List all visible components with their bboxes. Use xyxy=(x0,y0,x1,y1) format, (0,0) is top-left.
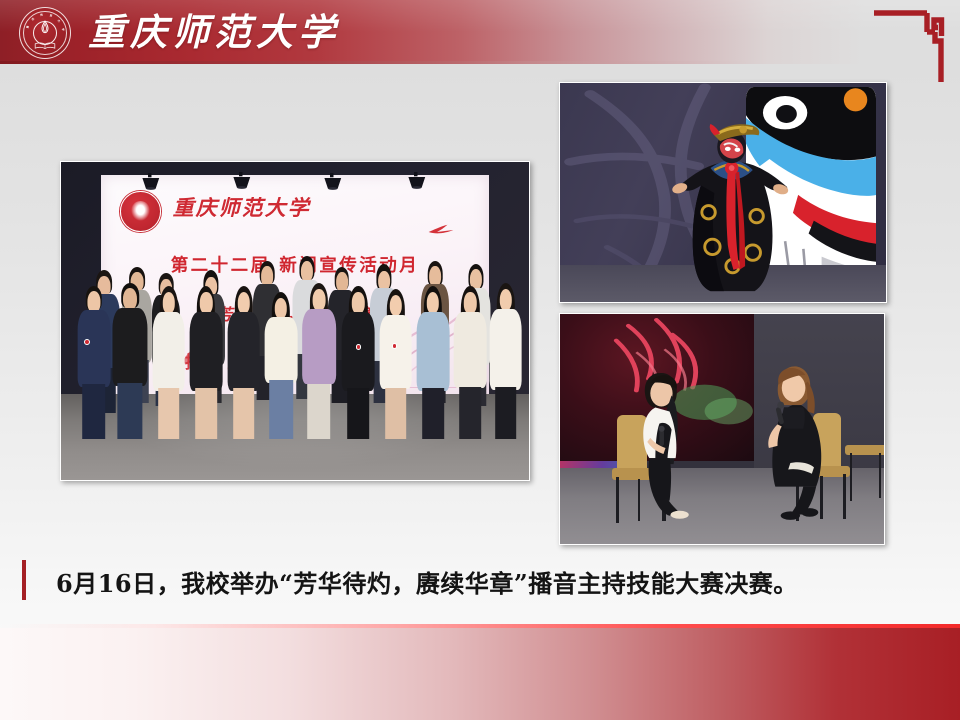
stage-spotlight-icon xyxy=(232,172,253,189)
group-photo-contestants-on-stage: 重庆师范大学 第二十二届 新闻宣传活动月 “芳华待灼，赓续华章” 播音主持技能大… xyxy=(60,161,530,481)
stage-spotlight-icon xyxy=(141,173,162,190)
person-figure xyxy=(227,286,260,439)
caption-text: 6月16日，我校举办“芳华待灼，赓续华章”播音主持技能大赛决赛。 xyxy=(56,560,936,602)
stage-spotlight-icon xyxy=(407,172,428,189)
person-figure xyxy=(265,292,298,438)
person-figure xyxy=(379,289,412,438)
person-figure xyxy=(417,286,450,439)
header-banner: 重庆师范大学 重庆师范大学 xyxy=(0,0,960,64)
interview-segment-photo xyxy=(559,313,885,545)
person-figure xyxy=(302,283,336,439)
person-figure xyxy=(342,286,375,439)
sichuan-opera-face-changing-performance-photo xyxy=(559,82,887,303)
person-figure xyxy=(454,286,487,439)
backdrop-university-name: 重庆师范大学 xyxy=(173,192,311,222)
university-emblem-icon: 重庆师范大学 xyxy=(19,7,71,59)
person-figure xyxy=(152,286,185,439)
meander-corner-top-right-icon xyxy=(872,6,948,84)
person-figure xyxy=(190,286,223,439)
person-figure xyxy=(112,283,147,439)
swallow-bird-icon xyxy=(428,224,454,236)
caption-accent-bar xyxy=(22,560,26,600)
person-figure xyxy=(77,286,110,439)
contestant-number-badge xyxy=(392,343,398,349)
slide-canvas: 重庆师范大学 重庆师范大学 重庆师范大学 xyxy=(0,0,960,720)
university-name-title: 重庆师范大学 xyxy=(88,4,340,60)
bottom-decorative-band xyxy=(0,628,960,720)
host-seated-left xyxy=(625,367,706,519)
person-figure xyxy=(489,283,522,439)
stage-spotlight-icon xyxy=(323,173,344,190)
contestant-number-badge xyxy=(356,344,362,350)
wooden-chair-empty xyxy=(845,420,885,503)
opera-performer-figure xyxy=(658,120,801,293)
backdrop-university-emblem-icon xyxy=(120,191,161,232)
emblem-ring-text: 重庆师范大学 xyxy=(20,8,70,58)
host-seated-right xyxy=(745,360,836,521)
